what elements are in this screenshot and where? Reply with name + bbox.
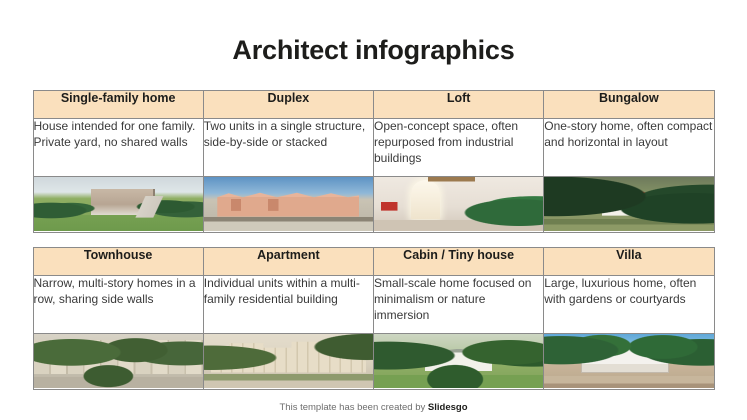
single-family-home-photo — [34, 177, 203, 231]
loft-interior-photo — [374, 177, 543, 231]
bungalow-photo — [544, 177, 713, 231]
page-title: Architect infographics — [0, 0, 747, 66]
infographic-table-row-1: Single-family home Duplex Loft Bungalow … — [33, 90, 715, 233]
photo-cell-apartment — [203, 333, 373, 389]
footer-credit: This template has been created by Slides… — [0, 402, 747, 413]
photo-cell-loft — [374, 176, 544, 232]
header-row: Townhouse Apartment Cabin / Tiny house V… — [33, 247, 714, 275]
footer-brand[interactable]: Slidesgo — [428, 402, 468, 413]
photo-row — [33, 333, 714, 389]
header-cell-bungalow[interactable]: Bungalow — [544, 90, 714, 118]
slide-canvas: Architect infographics Single-family hom… — [0, 0, 747, 420]
photo-cell-townhouse — [33, 333, 203, 389]
table-row-2: Townhouse Apartment Cabin / Tiny house V… — [33, 247, 715, 390]
description-cell-loft: Open-concept space, often repurposed fro… — [374, 118, 544, 176]
header-cell-cabin-tiny-house[interactable]: Cabin / Tiny house — [374, 247, 544, 275]
description-cell-bungalow: One-story home, often compact and horizo… — [544, 118, 714, 176]
header-cell-townhouse[interactable]: Townhouse — [33, 247, 203, 275]
villa-photo — [544, 334, 713, 388]
description-cell-townhouse: Narrow, multi-story homes in a row, shar… — [33, 275, 203, 333]
header-cell-loft[interactable]: Loft — [374, 90, 544, 118]
description-cell-apartment: Individual units within a multi-family r… — [203, 275, 373, 333]
photo-cell-bungalow — [544, 176, 714, 232]
townhouse-photo — [34, 334, 203, 388]
description-cell-villa: Large, luxurious home, often with garden… — [544, 275, 714, 333]
table-row-1: Single-family home Duplex Loft Bungalow … — [33, 90, 715, 233]
photo-row — [33, 176, 714, 232]
description-cell-cabin-tiny-house: Small-scale home focused on minimalism o… — [374, 275, 544, 333]
description-cell-duplex: Two units in a single structure, side-by… — [203, 118, 373, 176]
header-cell-apartment[interactable]: Apartment — [203, 247, 373, 275]
header-cell-villa[interactable]: Villa — [544, 247, 714, 275]
infographic-table-row-2: Townhouse Apartment Cabin / Tiny house V… — [33, 247, 715, 390]
duplex-photo — [204, 177, 373, 231]
footer-text: This template has been created by — [280, 402, 428, 413]
description-row: Narrow, multi-story homes in a row, shar… — [33, 275, 714, 333]
photo-cell-cabin-tiny-house — [374, 333, 544, 389]
header-cell-single-family-home[interactable]: Single-family home — [33, 90, 203, 118]
cabin-tiny-house-photo — [374, 334, 543, 388]
header-row: Single-family home Duplex Loft Bungalow — [33, 90, 714, 118]
photo-cell-duplex — [203, 176, 373, 232]
description-row: House intended for one family. Private y… — [33, 118, 714, 176]
photo-cell-single-family-home — [33, 176, 203, 232]
photo-cell-villa — [544, 333, 714, 389]
description-cell-single-family-home: House intended for one family. Private y… — [33, 118, 203, 176]
header-cell-duplex[interactable]: Duplex — [203, 90, 373, 118]
apartment-building-photo — [204, 334, 373, 388]
